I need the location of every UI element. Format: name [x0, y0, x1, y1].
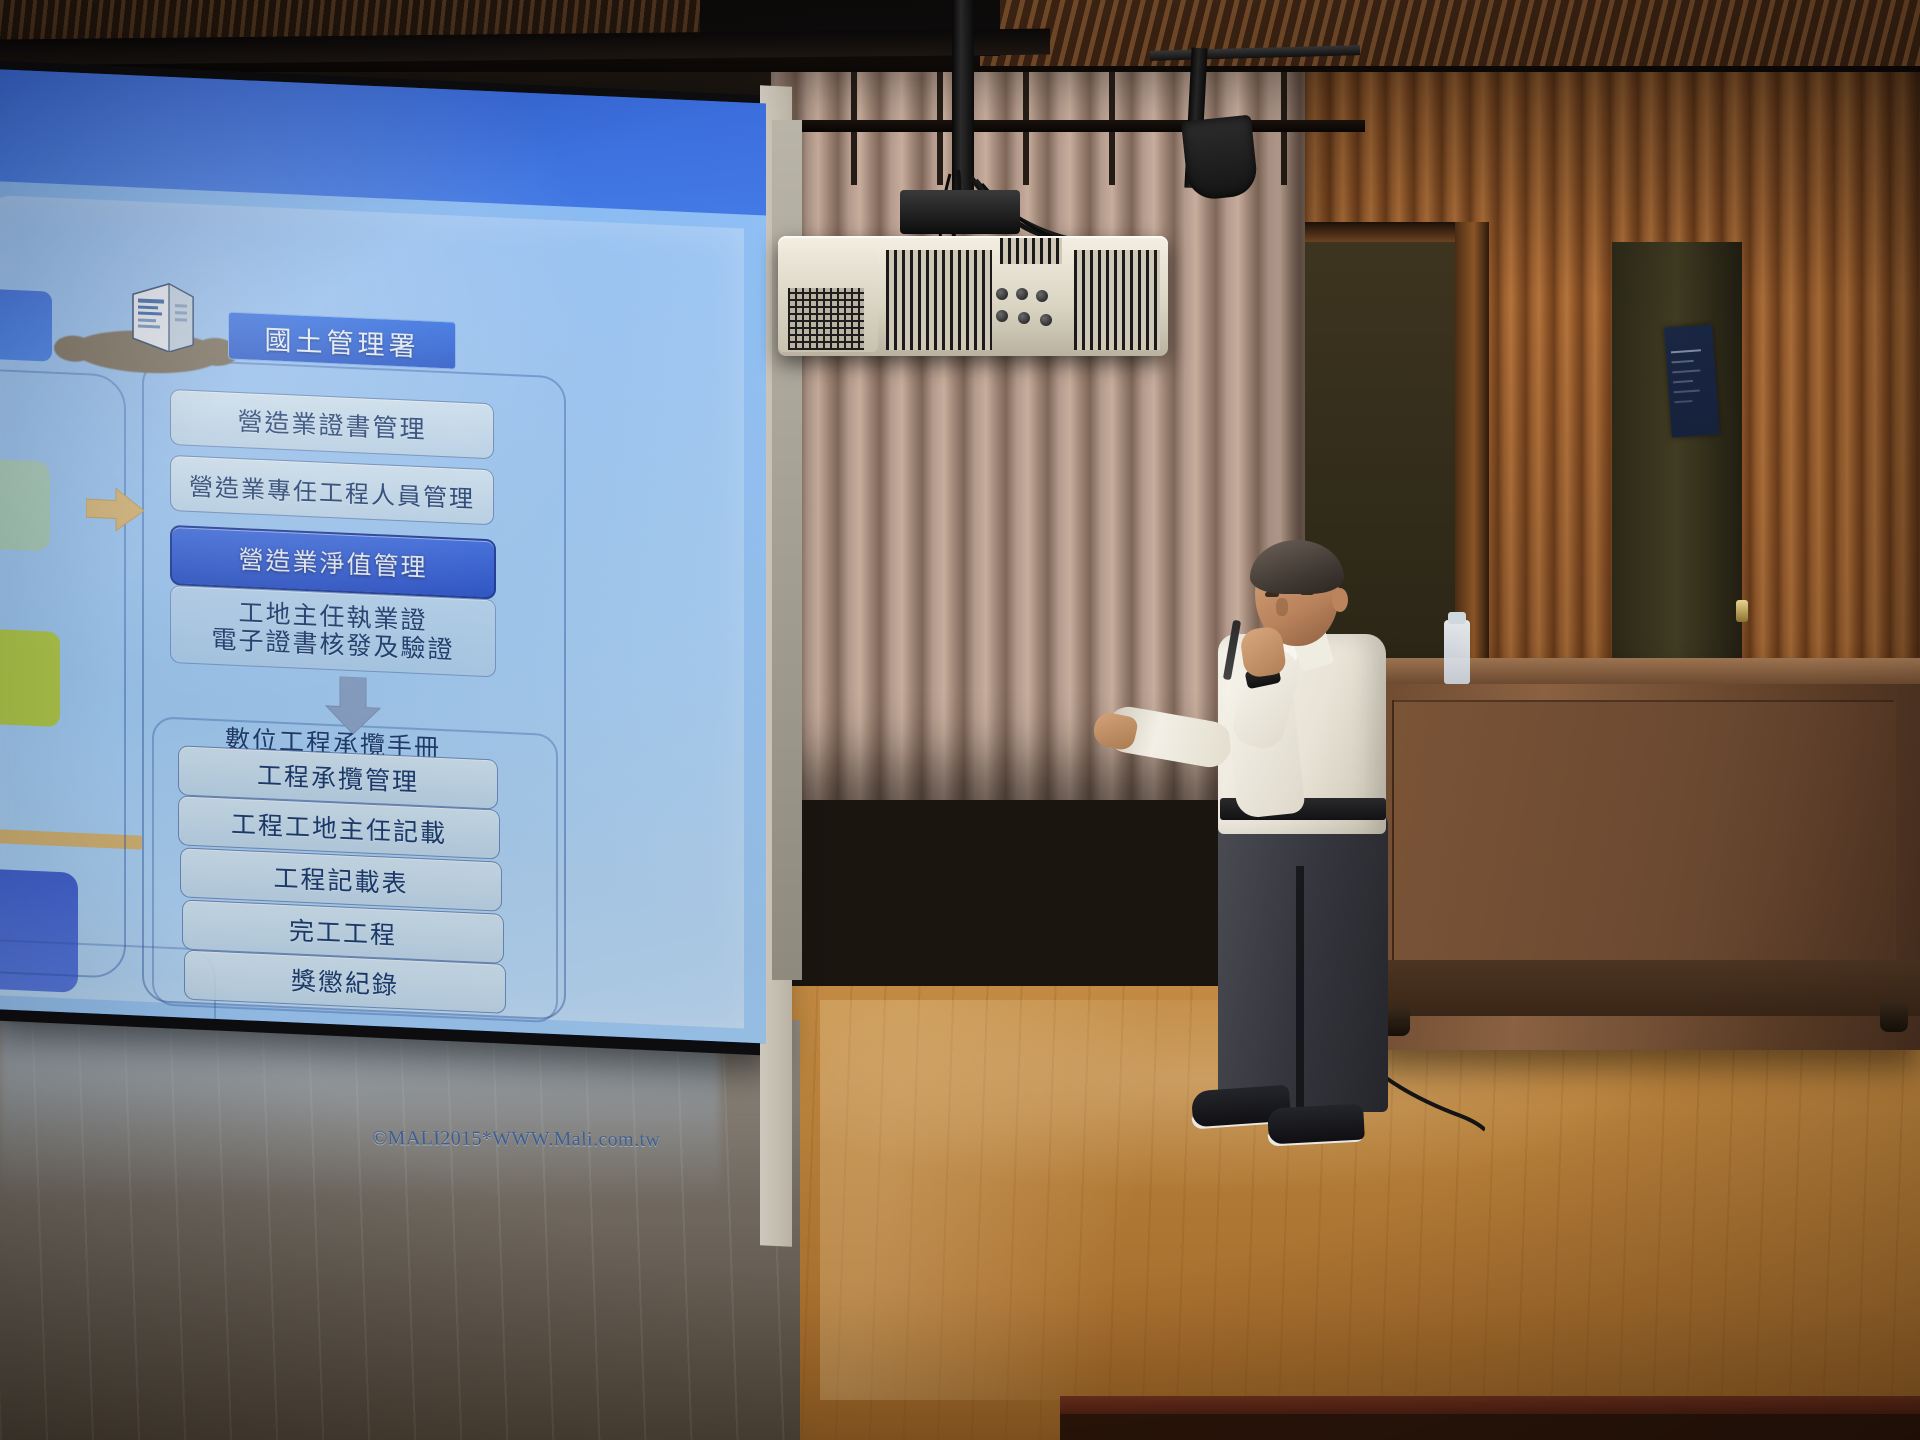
projector-mount-plate	[900, 190, 1020, 234]
water-bottle-cap	[1448, 612, 1466, 624]
server-icon	[127, 280, 199, 353]
lectern-base	[1368, 960, 1920, 1016]
projector-knob-5[interactable]	[1018, 312, 1030, 324]
presenter-leg-seam	[1296, 866, 1304, 1116]
curtain-crossbar	[765, 120, 1365, 132]
presenter-hair	[1250, 540, 1344, 594]
water-bottle[interactable]	[1444, 620, 1470, 684]
hanging-speaker	[1181, 115, 1259, 202]
projector-vent-left	[886, 250, 992, 350]
projector-knob-3[interactable]	[1036, 290, 1048, 302]
presenter-hand-holding-mic	[1239, 625, 1287, 678]
left-group-outline	[0, 361, 126, 979]
projector-knob-4[interactable]	[996, 310, 1008, 322]
projector-vent-right	[1074, 250, 1160, 350]
projector-intake-grill	[788, 288, 864, 350]
stage-apron-shadow	[1060, 1414, 1920, 1440]
lectern-caster-right	[1880, 1002, 1908, 1032]
notice-poster	[1664, 324, 1720, 437]
presenter-shoe-right	[1267, 1104, 1365, 1145]
projector-knob-6[interactable]	[1040, 314, 1052, 326]
door-handle[interactable]	[1736, 600, 1748, 622]
slide-box-site-chief-license: 工地主任執業證 電子證書核發及驗證	[170, 585, 496, 678]
presenter	[1100, 536, 1430, 1136]
projector-top-vent	[1000, 238, 1062, 264]
projected-slide: 營造業證書管理 營造業專任工程人員管理 營造業淨值管理 工地主任執業證 電子證書…	[0, 69, 766, 1044]
lectern-front-panel	[1392, 700, 1896, 1004]
left-partial-block-blue	[0, 287, 52, 362]
slide-copyright-footer: ©MALI2015*WWW.Mali.com.tw	[372, 1127, 661, 1152]
projector-knob-1[interactable]	[996, 288, 1008, 300]
projector-knob-2[interactable]	[1016, 288, 1028, 300]
presenter-nose	[1276, 598, 1288, 616]
ceiling-wood-slats	[980, 0, 1920, 66]
lecture-hall-photo: 營造業證書管理 營造業專任工程人員管理 營造業淨值管理 工地主任執業證 電子證書…	[0, 0, 1920, 1440]
slide-agency-header: 國土管理署	[228, 311, 456, 369]
presenter-ear	[1332, 588, 1348, 612]
arrow-right-icon	[86, 485, 144, 534]
